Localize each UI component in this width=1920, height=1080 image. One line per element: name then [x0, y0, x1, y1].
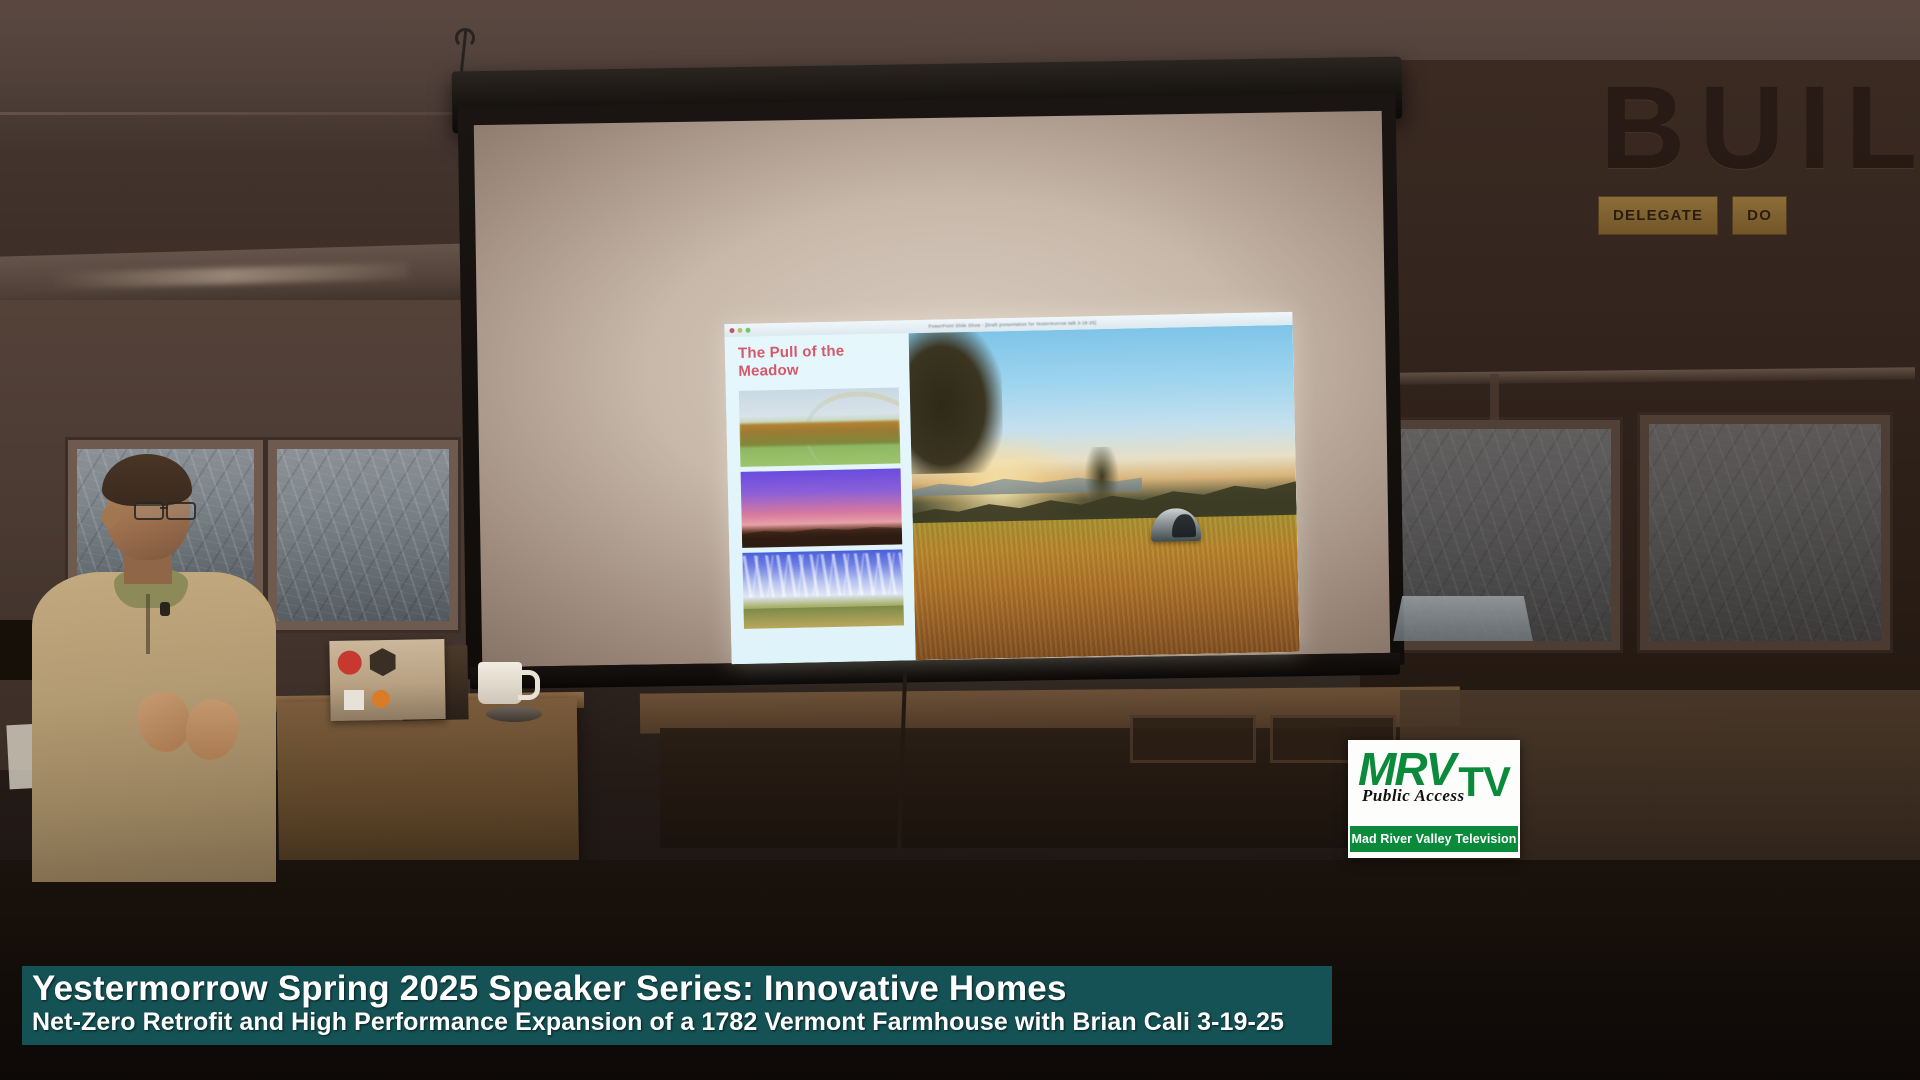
slide-left-column: The Pull of the Meadow	[725, 333, 916, 664]
presenter-ear	[102, 506, 118, 528]
coffee-mug	[478, 662, 522, 704]
window-pane-right-b	[1640, 415, 1890, 650]
thumbnail-purple-sunset	[741, 468, 903, 547]
word-card-delegate: DELEGATE	[1598, 196, 1718, 235]
presenter	[10, 450, 290, 880]
lower-third-subtitle: Net-Zero Retrofit and High Performance E…	[32, 1008, 1322, 1038]
meadow-field	[913, 514, 1300, 660]
logo-full-name: Mad River Valley Television	[1351, 832, 1516, 846]
close-dot-icon[interactable]	[729, 328, 734, 333]
wall-shelf-a	[1130, 715, 1256, 763]
wall-sign-build: BUIL	[1600, 44, 1920, 214]
wall-rail-post	[1490, 374, 1499, 420]
logo-text-tv: TV	[1458, 762, 1510, 802]
lapel-mic-icon	[160, 602, 170, 616]
slide-thumbnail-stack	[739, 387, 906, 628]
window-pane-center	[268, 440, 458, 630]
word-card-row: DELEGATE DO	[1598, 196, 1787, 235]
thumbnail-blue-sky-clouds	[742, 549, 904, 628]
red-badge-icon	[337, 650, 361, 674]
coffee-mug-handle	[518, 670, 540, 700]
glasses-lens-right	[166, 502, 196, 520]
projected-slide-window: PowerPoint Slide Show - [Draft presentat…	[724, 312, 1299, 664]
midground-tree	[1084, 446, 1120, 512]
logo-name-bar: Mad River Valley Television	[1350, 826, 1518, 852]
presenter-glasses-icon	[134, 502, 194, 516]
lower-third-banner: Yestermorrow Spring 2025 Speaker Series:…	[22, 966, 1332, 1045]
hex-swatch-icon	[369, 648, 395, 676]
lectern	[277, 698, 579, 882]
minimize-dot-icon[interactable]	[737, 328, 742, 333]
logo-tagline: Public Access	[1362, 786, 1465, 806]
thumbnail-rainbow-foliage	[739, 387, 901, 466]
presenter-hair	[102, 454, 192, 506]
slide-main-photo-pane	[909, 325, 1300, 660]
station-logo: MRV TV Public Access Mad River Valley Te…	[1348, 740, 1520, 858]
glasses-lens-left	[134, 502, 164, 520]
white-square-swatch	[344, 690, 364, 710]
desk-puck	[486, 706, 542, 722]
slide-heading: The Pull of the Meadow	[738, 341, 901, 381]
traffic-light-dots[interactable]	[729, 328, 750, 333]
word-card-do: DO	[1732, 196, 1787, 235]
foreground-tree-left	[909, 325, 1004, 474]
photo-golden-hour-meadow	[909, 325, 1300, 660]
slide-body: The Pull of the Meadow	[725, 325, 1300, 664]
broadcast-frame: BUIL DELEGATE DO PowerPoint Slide Show -…	[0, 0, 1920, 1080]
lower-third-title: Yestermorrow Spring 2025 Speaker Series:…	[32, 970, 1322, 1008]
station-logo-mark: MRV TV Public Access	[1356, 746, 1512, 812]
laptop	[1393, 596, 1533, 641]
presenter-zipper	[146, 594, 150, 654]
orange-circle-swatch	[372, 690, 390, 708]
